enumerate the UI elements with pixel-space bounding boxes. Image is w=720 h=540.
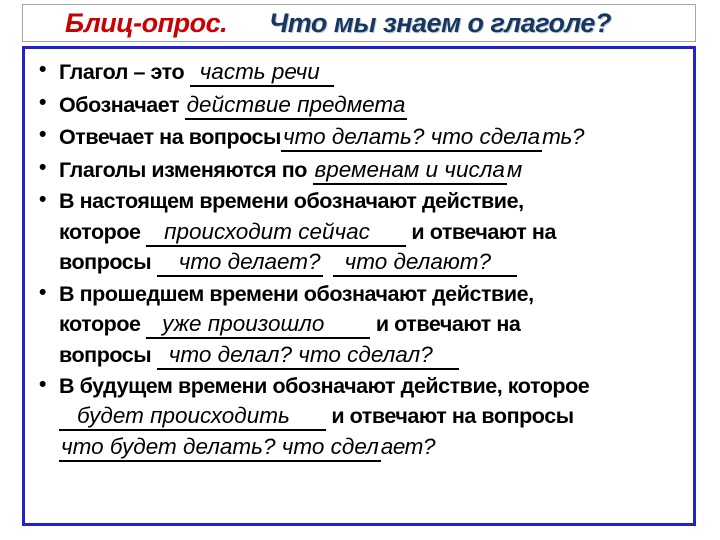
prompt-text: вопросы xyxy=(59,343,157,367)
prompt-text: которое xyxy=(59,220,146,244)
answer-blank[interactable]: часть речи xyxy=(190,59,334,87)
answer-tail: ть? xyxy=(542,124,584,149)
page-title: Что мы знаем о глаголе? xyxy=(269,8,611,39)
bullet-line: Глаголы изменяются по временам и числам xyxy=(59,155,685,186)
prompt-text: В прошедшем времени обозначают действие, xyxy=(59,282,534,306)
bullet-present-tense: В настоящем времени обозначают действие,… xyxy=(33,187,685,277)
bullet-line: В будущем времени обозначают действие, к… xyxy=(59,372,685,401)
answer-tail: м xyxy=(507,157,522,182)
prompt-text: Глагол – это xyxy=(59,60,190,84)
bullet-changes: Глаголы изменяются по временам и числам xyxy=(33,155,685,186)
bullet-line: которое происходит сейчас и отвечают на xyxy=(59,217,685,248)
answer-blank[interactable]: что делает? xyxy=(157,249,323,277)
bullet-line: Обозначает действие предмета xyxy=(59,90,685,121)
answer-tail: ает? xyxy=(381,434,435,459)
answer-blank[interactable]: происходит сейчас xyxy=(146,219,406,247)
answer-blank[interactable]: уже произошло xyxy=(146,311,370,339)
answer-blank[interactable]: что делать? что сдела xyxy=(281,124,542,152)
prompt-text: и отвечают на вопросы xyxy=(326,404,574,428)
bullet-line: Глагол – это часть речи xyxy=(59,57,685,88)
bullet-line: Отвечает на вопросычто делать? что сдела… xyxy=(59,122,685,153)
bullet-line: В прошедшем времени обозначают действие, xyxy=(59,280,685,309)
prompt-text: Глаголы изменяются по xyxy=(59,158,313,182)
bullet-line: что будет делать? что сделает? xyxy=(59,432,685,463)
bullet-questions: Отвечает на вопросычто делать? что сдела… xyxy=(33,122,685,153)
prompt-text: В будущем времени обозначают действие, к… xyxy=(59,374,589,398)
bullet-line: вопросы что делает?что делают? xyxy=(59,247,685,278)
prompt-text: Отвечает на вопросы xyxy=(59,125,281,149)
bullet-line: В настоящем времени обозначают действие, xyxy=(59,187,685,216)
bullet-line: будет происходить и отвечают на вопросы xyxy=(59,401,685,432)
bullet-future-tense: В будущем времени обозначают действие, к… xyxy=(33,372,685,462)
answer-blank[interactable]: действие предмета xyxy=(185,92,408,120)
bullet-past-tense: В прошедшем времени обозначают действие,… xyxy=(33,280,685,370)
bullet-means: Обозначает действие предмета xyxy=(33,90,685,121)
slide-root: Блиц-опрос. Что мы знаем о глаголе? Глаг… xyxy=(0,0,720,540)
answer-blank[interactable]: будет происходить xyxy=(59,403,326,431)
prompt-text: и отвечают на xyxy=(406,220,556,244)
answer-blank[interactable]: что будет делать? что сдел xyxy=(59,434,381,462)
prompt-text: Обозначает xyxy=(59,93,185,117)
bullet-line: которое уже произошло и отвечают на xyxy=(59,309,685,340)
answer-blank-2[interactable]: что делают? xyxy=(333,249,517,277)
prompt-text: вопросы xyxy=(59,250,157,274)
prompt-text: которое xyxy=(59,312,146,336)
slide-content-frame: Глагол – это часть речи Обозначает дейст… xyxy=(22,46,696,526)
bullet-line: вопросы что делал? что сделал? xyxy=(59,340,685,371)
answer-blank[interactable]: временам и числа xyxy=(313,157,507,185)
prompt-text: и отвечают на xyxy=(370,312,520,336)
answer-blank[interactable]: что делал? что сделал? xyxy=(157,342,459,370)
bullet-definition: Глагол – это часть речи xyxy=(33,57,685,88)
prompt-text: В настоящем времени обозначают действие, xyxy=(59,189,524,213)
slide-title-box: Блиц-опрос. Что мы знаем о глаголе? xyxy=(22,4,696,42)
title-highlight: Блиц-опрос. xyxy=(65,8,227,39)
bullet-list: Глагол – это часть речи Обозначает дейст… xyxy=(33,57,685,463)
